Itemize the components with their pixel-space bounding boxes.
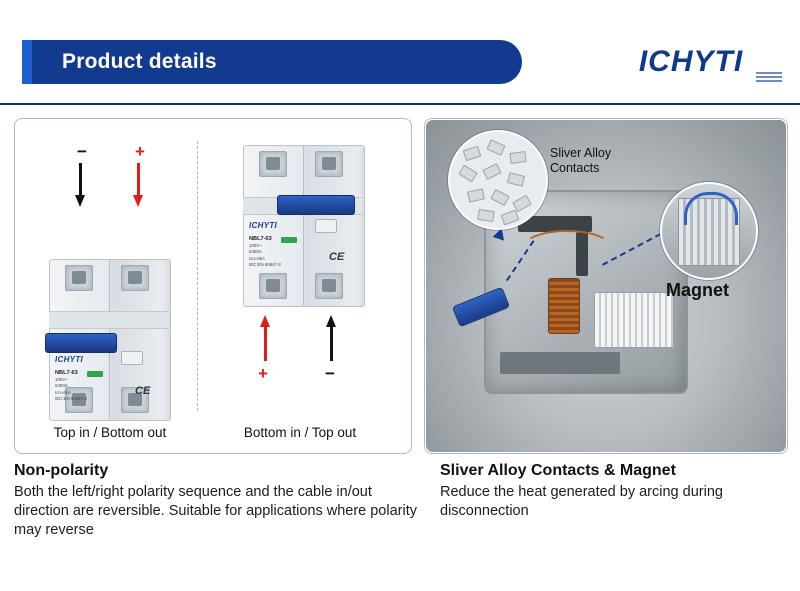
caption-left-body: Both the left/right polarity sequence an…	[14, 483, 418, 540]
breaker-spec-right-4: IEC:EN 60947-2	[249, 262, 295, 268]
terminal-top-left-a	[65, 265, 93, 291]
label-sliver-alloy-contacts-line1: Sliver Alloy	[550, 146, 611, 161]
arrow-down-black-a	[70, 163, 90, 209]
caption-non-polarity: Non-polarity Both the left/right polarit…	[14, 462, 418, 540]
terminal-bottom-left-b	[259, 273, 287, 299]
ce-mark-right: CE	[329, 251, 344, 263]
label-sliver-alloy-contacts: Sliver Alloy Contacts	[550, 146, 611, 176]
arrow-up-red-b	[255, 315, 275, 361]
label-sliver-alloy-contacts-line2: Contacts	[550, 161, 611, 176]
zoom-bubble-contacts	[448, 130, 548, 230]
breaker-internals-photo: Sliver Alloy Contacts Magnet	[426, 120, 786, 452]
header-accent-bar	[22, 40, 32, 84]
brand-logo-bars-icon	[756, 72, 782, 82]
panel-contacts-magnet: Sliver Alloy Contacts Magnet	[424, 118, 788, 454]
header-divider	[0, 103, 800, 105]
breaker-toggle-lever-right[interactable]	[277, 195, 355, 215]
terminal-top-left-b	[259, 151, 287, 177]
panel-non-polarity: ICHYTI NBL7-63 100V~ 6400A Icn=6kA IEC:E…	[14, 118, 412, 454]
breaker-device-left: ICHYTI NBL7-63 100V~ 6400A Icn=6kA IEC:E…	[49, 259, 169, 419]
caption-right-body: Reduce the heat generated by arcing duri…	[440, 483, 790, 521]
terminal-top-right-b	[315, 151, 343, 177]
breaker-spec-left-4: IEC:EN 60947-2	[55, 396, 101, 402]
internal-base-rail	[500, 352, 620, 374]
breaker-green-tag-right	[281, 237, 297, 243]
terminal-top-right-a	[121, 265, 149, 291]
breaker-green-tag-left	[87, 371, 103, 377]
polarity-sign-minus-a: −	[77, 143, 87, 160]
caption-contacts-magnet: Sliver Alloy Contacts & Magnet Reduce th…	[440, 462, 790, 521]
arrow-up-black-b	[321, 315, 341, 361]
trip-coil	[548, 278, 580, 334]
breaker-rail-notch-left	[49, 311, 169, 329]
arc-chamber-plates	[594, 292, 674, 348]
polarity-sign-plus-a: +	[135, 143, 145, 160]
breaker-window-left	[121, 351, 143, 365]
page-title: Product details	[62, 50, 217, 74]
polarity-sign-plus-b: +	[258, 365, 268, 382]
sub-label-top-in-bottom-out: Top in / Bottom out	[35, 425, 185, 440]
breaker-device-right: ICHYTI NBL7-63 100V~ 6400A Icn=6kA IEC:E…	[243, 145, 363, 305]
caption-right-title: Sliver Alloy Contacts & Magnet	[440, 462, 790, 480]
panel-vertical-divider	[197, 141, 198, 411]
breaker-toggle-lever-left[interactable]	[45, 333, 117, 353]
arrow-down-red-a	[128, 163, 148, 209]
ce-mark-left: CE	[135, 385, 150, 397]
breaker-window-right	[315, 219, 337, 233]
terminal-bottom-right-b	[315, 273, 343, 299]
breaker-pole-split-right	[303, 145, 304, 305]
internal-copper-wire	[522, 230, 612, 274]
brand-logo: ICHYTI	[596, 36, 786, 88]
label-magnet: Magnet	[666, 280, 729, 301]
polarity-sign-minus-b: −	[325, 365, 335, 382]
page-header: Product details ICHYTI	[0, 0, 800, 105]
zoom-bubble-magnet	[660, 182, 758, 280]
breaker-brand-left: ICHYTI	[55, 355, 83, 364]
sub-label-bottom-in-top-out: Bottom in / Top out	[211, 425, 389, 440]
breaker-brand-right: ICHYTI	[249, 221, 277, 230]
caption-left-title: Non-polarity	[14, 462, 418, 480]
